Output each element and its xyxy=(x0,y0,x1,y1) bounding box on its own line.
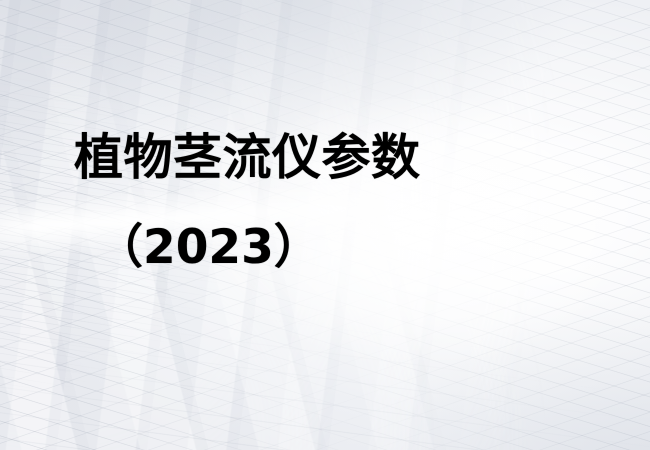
title-slide: 植物茎流仪参数 （2023） xyxy=(0,0,650,450)
slide-title-line-1: 植物茎流仪参数 xyxy=(74,133,421,182)
slide-title-line-2-year: （2023） xyxy=(96,224,321,271)
slide-title-block: 植物茎流仪参数 （2023） xyxy=(0,0,650,450)
